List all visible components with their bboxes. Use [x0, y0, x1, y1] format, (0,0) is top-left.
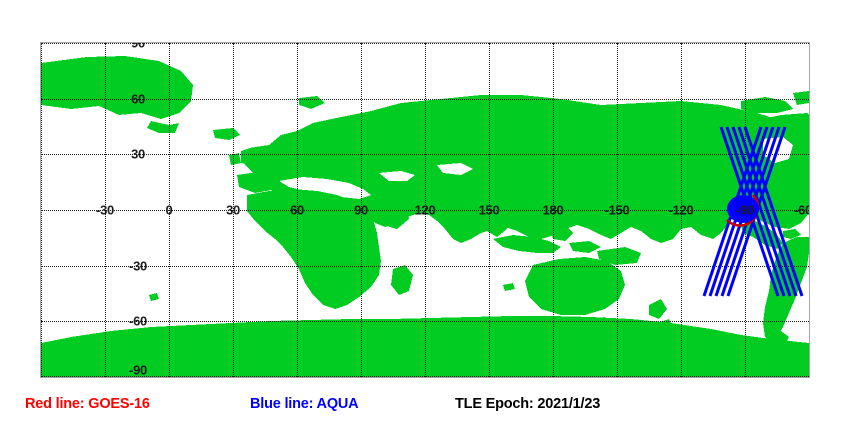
lon-label: 0	[166, 203, 173, 218]
lon-label: -150	[605, 203, 630, 218]
lon-label: 150	[479, 203, 500, 218]
lon-label: -120	[669, 203, 694, 218]
satellite-ground-track-page: -30 0 30 60 90 120 150 180 -150 -120 -90…	[0, 0, 850, 425]
lat-label: -30	[129, 258, 147, 273]
lat-label: 60	[131, 91, 145, 106]
legend-goes16: Red line: GOES-16	[25, 396, 150, 412]
lat-label: -90	[129, 363, 147, 378]
lon-label: 90	[354, 203, 368, 218]
world-map-frame: -30 0 30 60 90 120 150 180 -150 -120 -90…	[40, 42, 810, 378]
lon-label: -30	[96, 203, 114, 218]
legend-aqua: Blue line: AQUA	[250, 396, 358, 412]
lon-label: 120	[415, 203, 436, 218]
lat-label: 30	[131, 147, 145, 162]
lon-label: -60	[794, 203, 810, 218]
lat-label: 90	[131, 42, 145, 51]
legend-tle-epoch: TLE Epoch: 2021/1/23	[455, 396, 600, 412]
lon-label: 180	[543, 203, 564, 218]
map-legend: Red line: GOES-16 Blue line: AQUA TLE Ep…	[0, 396, 850, 418]
lat-label: -60	[129, 314, 147, 329]
lon-label: -90	[736, 203, 754, 218]
lon-label: 60	[290, 203, 304, 218]
lon-label: 30	[226, 203, 240, 218]
